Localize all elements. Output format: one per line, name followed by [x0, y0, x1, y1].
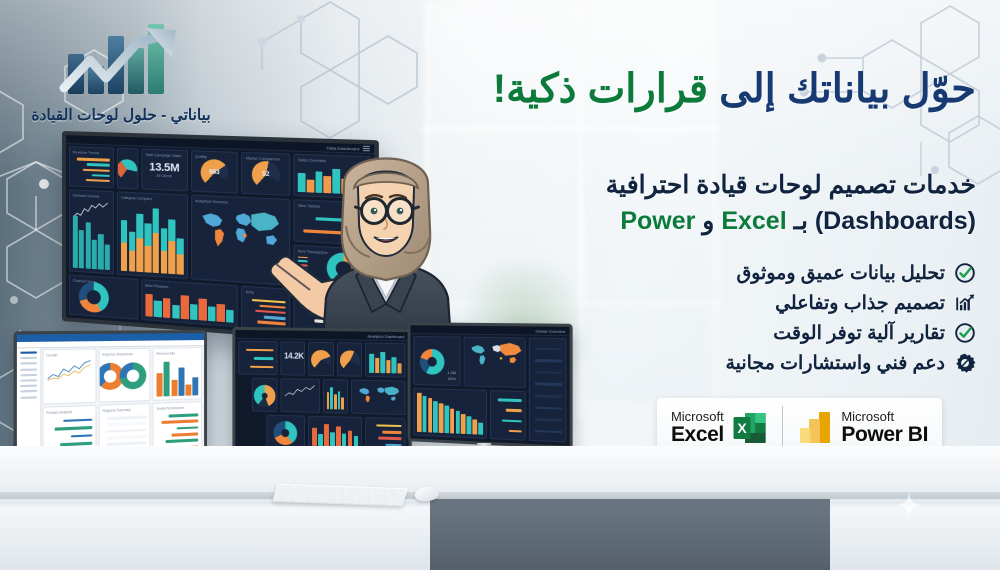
center-monitor: Analytics Dashboard	[232, 327, 411, 459]
list-item: تقارير آلية توفر الوقت	[646, 318, 976, 348]
bar-chart	[73, 208, 110, 270]
right-dashboard-grid: 61% 1.2M	[413, 336, 566, 443]
chart-growth-icon	[954, 292, 976, 314]
left-dashboard-grid: Revenue Mix Expense Breakdown	[43, 347, 203, 462]
gauge-chart	[339, 350, 359, 370]
center-dashboard-grid: 14.2K	[238, 341, 405, 453]
list-item-label: تصميم جذاب وتفاعلي	[775, 292, 945, 315]
dashboard-titlebar: Analytics Dashboard	[235, 330, 408, 341]
card-hbars	[489, 390, 526, 441]
headline: حوّل بياناتك إلى قرارات ذكية!	[336, 66, 976, 112]
subtitle-excel: Excel	[721, 207, 786, 235]
sparkle-icon	[896, 492, 922, 518]
card-expense-breakdown: Expense Breakdown	[99, 348, 150, 403]
dashboard-title: Global Overview	[535, 328, 565, 333]
partner-powerbi: Microsoft Power BI	[797, 409, 928, 447]
donut-label: 1.2M	[447, 370, 456, 375]
world-map-chart	[468, 341, 522, 366]
ad-canvas: بياناتي - حلول لوحات القيادة حوّل بيانات…	[0, 0, 1000, 570]
subtitle-power: Power	[620, 207, 695, 235]
horizontal-bar-chart	[369, 422, 401, 448]
card-title: Product Analysis	[46, 409, 92, 415]
data-table	[533, 343, 562, 439]
presenter-illustration	[286, 126, 486, 356]
headline-part1: حوّل بياناتك إلى	[708, 67, 976, 111]
card-bars	[322, 379, 348, 414]
card-gauge-kpis	[117, 148, 138, 189]
right-monitor-screen: Global Overview	[410, 325, 569, 446]
line-chart	[47, 359, 92, 382]
card-bars	[413, 387, 486, 439]
donut-chart	[79, 281, 109, 313]
kpi-value: 13.5M	[145, 161, 183, 175]
gauge-chart: 963	[201, 158, 229, 186]
card-demand-volume: Demand Volume	[69, 189, 114, 275]
card-donut	[266, 415, 305, 450]
desk-edge	[0, 492, 1000, 499]
logo-divider	[782, 406, 784, 450]
card-kpi: 14.2K	[280, 341, 305, 375]
logo-tagline: بياناتي - حلول لوحات القيادة	[16, 106, 226, 125]
powerbi-product-label: Power BI	[841, 424, 928, 446]
line-chart	[284, 383, 315, 398]
microsoft-excel-icon: X	[732, 409, 768, 447]
horizontal-bar-chart	[242, 346, 273, 371]
card-revenue-trends: Revenue Trends	[69, 146, 114, 188]
gauge-chart: 52	[252, 160, 280, 188]
card-title: Revenue Mix	[156, 351, 198, 356]
card-gauge-quality: Quality 963	[191, 150, 239, 193]
bar-chart	[312, 421, 358, 447]
logo-mark-icon	[16, 14, 226, 110]
card-title: Revenue Trends	[73, 150, 110, 155]
bar-chart	[157, 356, 198, 396]
card-bars	[365, 343, 405, 378]
desk-underside	[430, 499, 830, 570]
card-title: Demand Volume	[73, 193, 110, 199]
gauge-value: 52	[252, 160, 280, 188]
card-world-map	[351, 380, 406, 415]
bar-chart	[145, 290, 234, 323]
card-title: Yearly Performance	[156, 405, 198, 411]
gauge-value: 963	[201, 158, 229, 186]
subtitle-and: و	[695, 207, 721, 235]
kpi-value: 14.2K	[284, 351, 301, 360]
bar-chart	[369, 348, 401, 374]
excel-product-label: Excel	[671, 424, 724, 446]
donut-chart	[420, 348, 445, 374]
card-data-table	[529, 338, 566, 443]
list-item-label: دعم فني واستشارات مجانية	[725, 352, 945, 375]
world-map-chart	[355, 384, 402, 404]
powerbi-vendor-label: Microsoft	[841, 410, 928, 424]
check-circle-icon	[954, 322, 976, 344]
card-title: Growth	[46, 352, 92, 357]
svg-text:X: X	[737, 420, 747, 436]
gear-icon	[954, 352, 976, 374]
card-kpi-total: Total Campaign Sales 13.5M All Clients	[141, 149, 187, 192]
card-best-prospect: Best Prospect	[141, 279, 238, 327]
card-gauge	[337, 342, 363, 377]
horizontal-bar-chart	[73, 156, 110, 183]
donut-chart	[254, 384, 276, 406]
bar-chart	[417, 392, 483, 435]
list-item: دعم فني واستشارات مجانية	[646, 348, 976, 378]
list-item-label: تقارير آلية توفر الوقت	[773, 322, 945, 345]
list-item: تحليل بيانات عميق وموثوق	[646, 258, 976, 288]
card-line	[280, 378, 319, 413]
excel-vendor-label: Microsoft	[671, 410, 724, 424]
subtitle-dashboards: (Dashboards)	[815, 207, 976, 235]
card-title: Expense Breakdown	[103, 351, 147, 356]
brand-logo: بياناتي - حلول لوحات القيادة	[16, 14, 226, 134]
donut-chart	[119, 362, 146, 389]
card-donut-share: 61% 1.2M	[413, 336, 461, 386]
stacked-bar-chart	[121, 201, 184, 274]
card-growth: Growth	[43, 348, 97, 404]
horizontal-bar-chart	[493, 395, 522, 437]
card-hbars	[238, 341, 277, 375]
list-item-label: تحليل بيانات عميق وموثوق	[737, 262, 946, 285]
card-title: Regional Summary	[103, 407, 147, 413]
partner-excel: Microsoft Excel X	[671, 409, 768, 447]
dashboard-titlebar: Global Overview	[410, 325, 569, 336]
headline-part2: قرارات ذكية!	[493, 67, 708, 111]
right-monitor: Global Overview	[408, 322, 573, 449]
card-world-map	[464, 337, 526, 388]
dashboard-title: Analytics Dashboard	[367, 333, 404, 339]
microsoft-power-bi-icon	[797, 409, 833, 447]
donut-chart	[274, 420, 298, 445]
gauge-chart	[311, 349, 331, 369]
card-gauge	[308, 342, 333, 376]
card-gauge-market: Market Comparison 52	[242, 152, 291, 196]
center-monitor-screen: Analytics Dashboard	[235, 330, 408, 456]
card-revenue-mix: Revenue Mix	[153, 347, 202, 401]
check-circle-icon	[954, 262, 976, 284]
list-item: تصميم جذاب وتفاعلي	[646, 288, 976, 318]
gauge-chart	[117, 159, 137, 180]
card-title: Total Campaign Sales	[145, 153, 183, 158]
feature-list: تحليل بيانات عميق وموثوق تصميم جذاب وتفا…	[646, 258, 976, 378]
donut-label: 61%	[448, 375, 456, 380]
subtitle-bi: بـ	[787, 207, 815, 235]
card-category-compare: Category Compare	[117, 191, 188, 279]
card-donut	[252, 378, 277, 412]
bar-chart	[326, 384, 344, 409]
card-channel-share: Channel Share	[69, 275, 138, 320]
